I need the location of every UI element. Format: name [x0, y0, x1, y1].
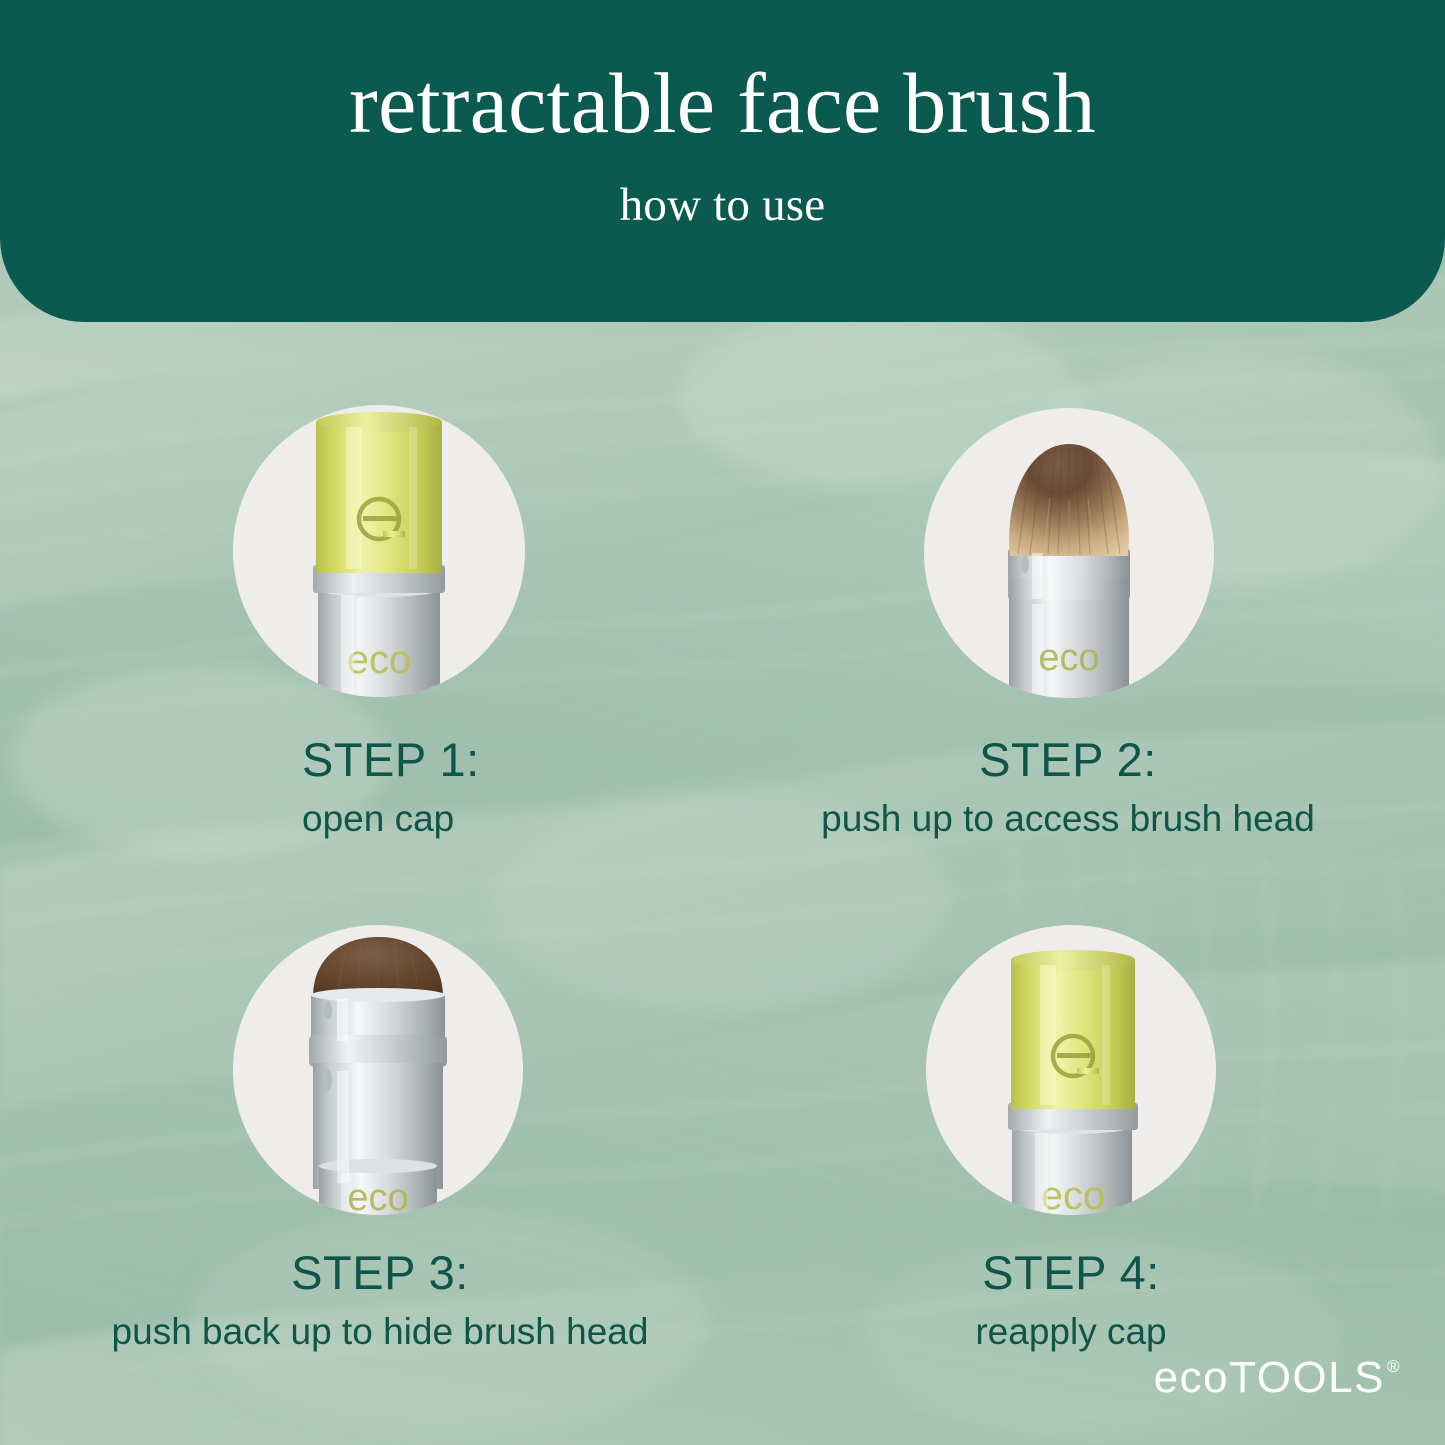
step-3-title: STEP 3:	[110, 1248, 650, 1297]
steps-container: eco STEP 1: open cap	[0, 0, 1445, 1445]
brand-name-eco: eco	[1154, 1353, 1229, 1403]
brush-head-extended-icon: eco	[924, 408, 1214, 698]
step-2-description: push up to access brush head	[818, 798, 1318, 841]
step-4-title: STEP 4:	[861, 1248, 1281, 1297]
step-1-image-circle: eco	[233, 405, 525, 697]
step-1-caption: STEP 1: open cap	[302, 735, 722, 841]
step-4-image-circle: eco	[926, 925, 1216, 1215]
svg-text:eco: eco	[1038, 637, 1099, 679]
step-2-image-circle: eco	[924, 408, 1214, 698]
step-1-description: open cap	[302, 798, 722, 841]
brush-head-retracted-icon: eco	[233, 925, 523, 1215]
step-1-title: STEP 1:	[302, 735, 722, 784]
step-3-caption: STEP 3: push back up to hide brush head	[110, 1248, 650, 1354]
ecotools-brand-logo: eco TOOLS ®	[1154, 1353, 1401, 1403]
svg-text:eco: eco	[347, 638, 412, 682]
step-2-caption: STEP 2: push up to access brush head	[818, 735, 1318, 841]
step-4-caption: STEP 4: reapply cap	[861, 1248, 1281, 1354]
registered-trademark-icon: ®	[1387, 1357, 1401, 1377]
step-2-title: STEP 2:	[818, 735, 1318, 784]
brush-capped-closed-icon: eco	[926, 925, 1216, 1215]
brush-capped-closed-icon: eco	[233, 405, 525, 697]
step-3-description: push back up to hide brush head	[110, 1311, 650, 1354]
step-4-description: reapply cap	[861, 1311, 1281, 1354]
brand-name-tools: TOOLS	[1229, 1353, 1385, 1403]
step-3-image-circle: eco	[233, 925, 523, 1215]
svg-text:eco: eco	[347, 1177, 408, 1215]
svg-text:eco: eco	[1041, 1174, 1106, 1215]
